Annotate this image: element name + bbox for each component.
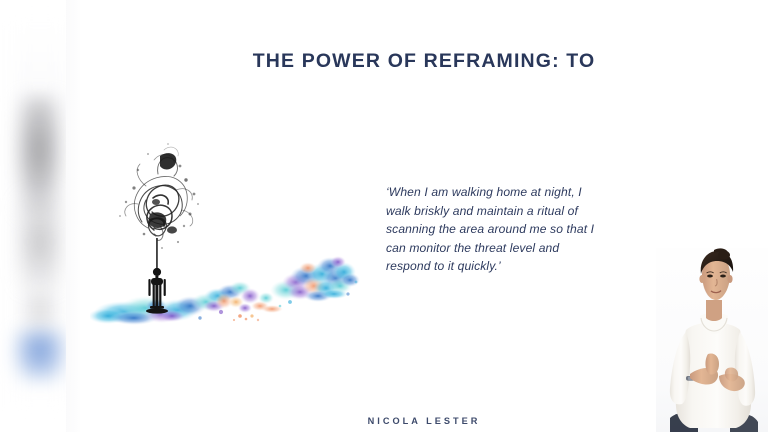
slide-quote: ‘When I am walking home at night, I walk… [386, 183, 611, 276]
quote-line: ‘When I am walking home at night, I [386, 183, 611, 202]
slide-title: THE POWER OF REFRAMING: TO [80, 50, 768, 73]
sign-language-interpreter-video[interactable] [656, 248, 768, 432]
bleed-blob-lower [20, 282, 60, 338]
quote-line: can monitor the threat level and [386, 239, 611, 258]
bleed-paper-shape [14, 18, 66, 418]
bleed-blob-upper [16, 96, 62, 216]
quote-line: respond to it quickly.’ [386, 257, 611, 276]
bleed-blob-middle [18, 196, 62, 288]
quote-line: walk briskly and maintain a ritual of [386, 202, 611, 221]
artwork-watercolor-ground [90, 256, 360, 325]
quote-line: scanning the area around me so that I [386, 220, 611, 239]
slide-artwork [90, 130, 370, 345]
bleed-edge-fade [66, 0, 80, 432]
left-edge-blurred-bleed [0, 0, 80, 432]
video-player-stage: THE POWER OF REFRAMING: TO [0, 0, 768, 432]
bleed-blob-blue [14, 330, 66, 382]
